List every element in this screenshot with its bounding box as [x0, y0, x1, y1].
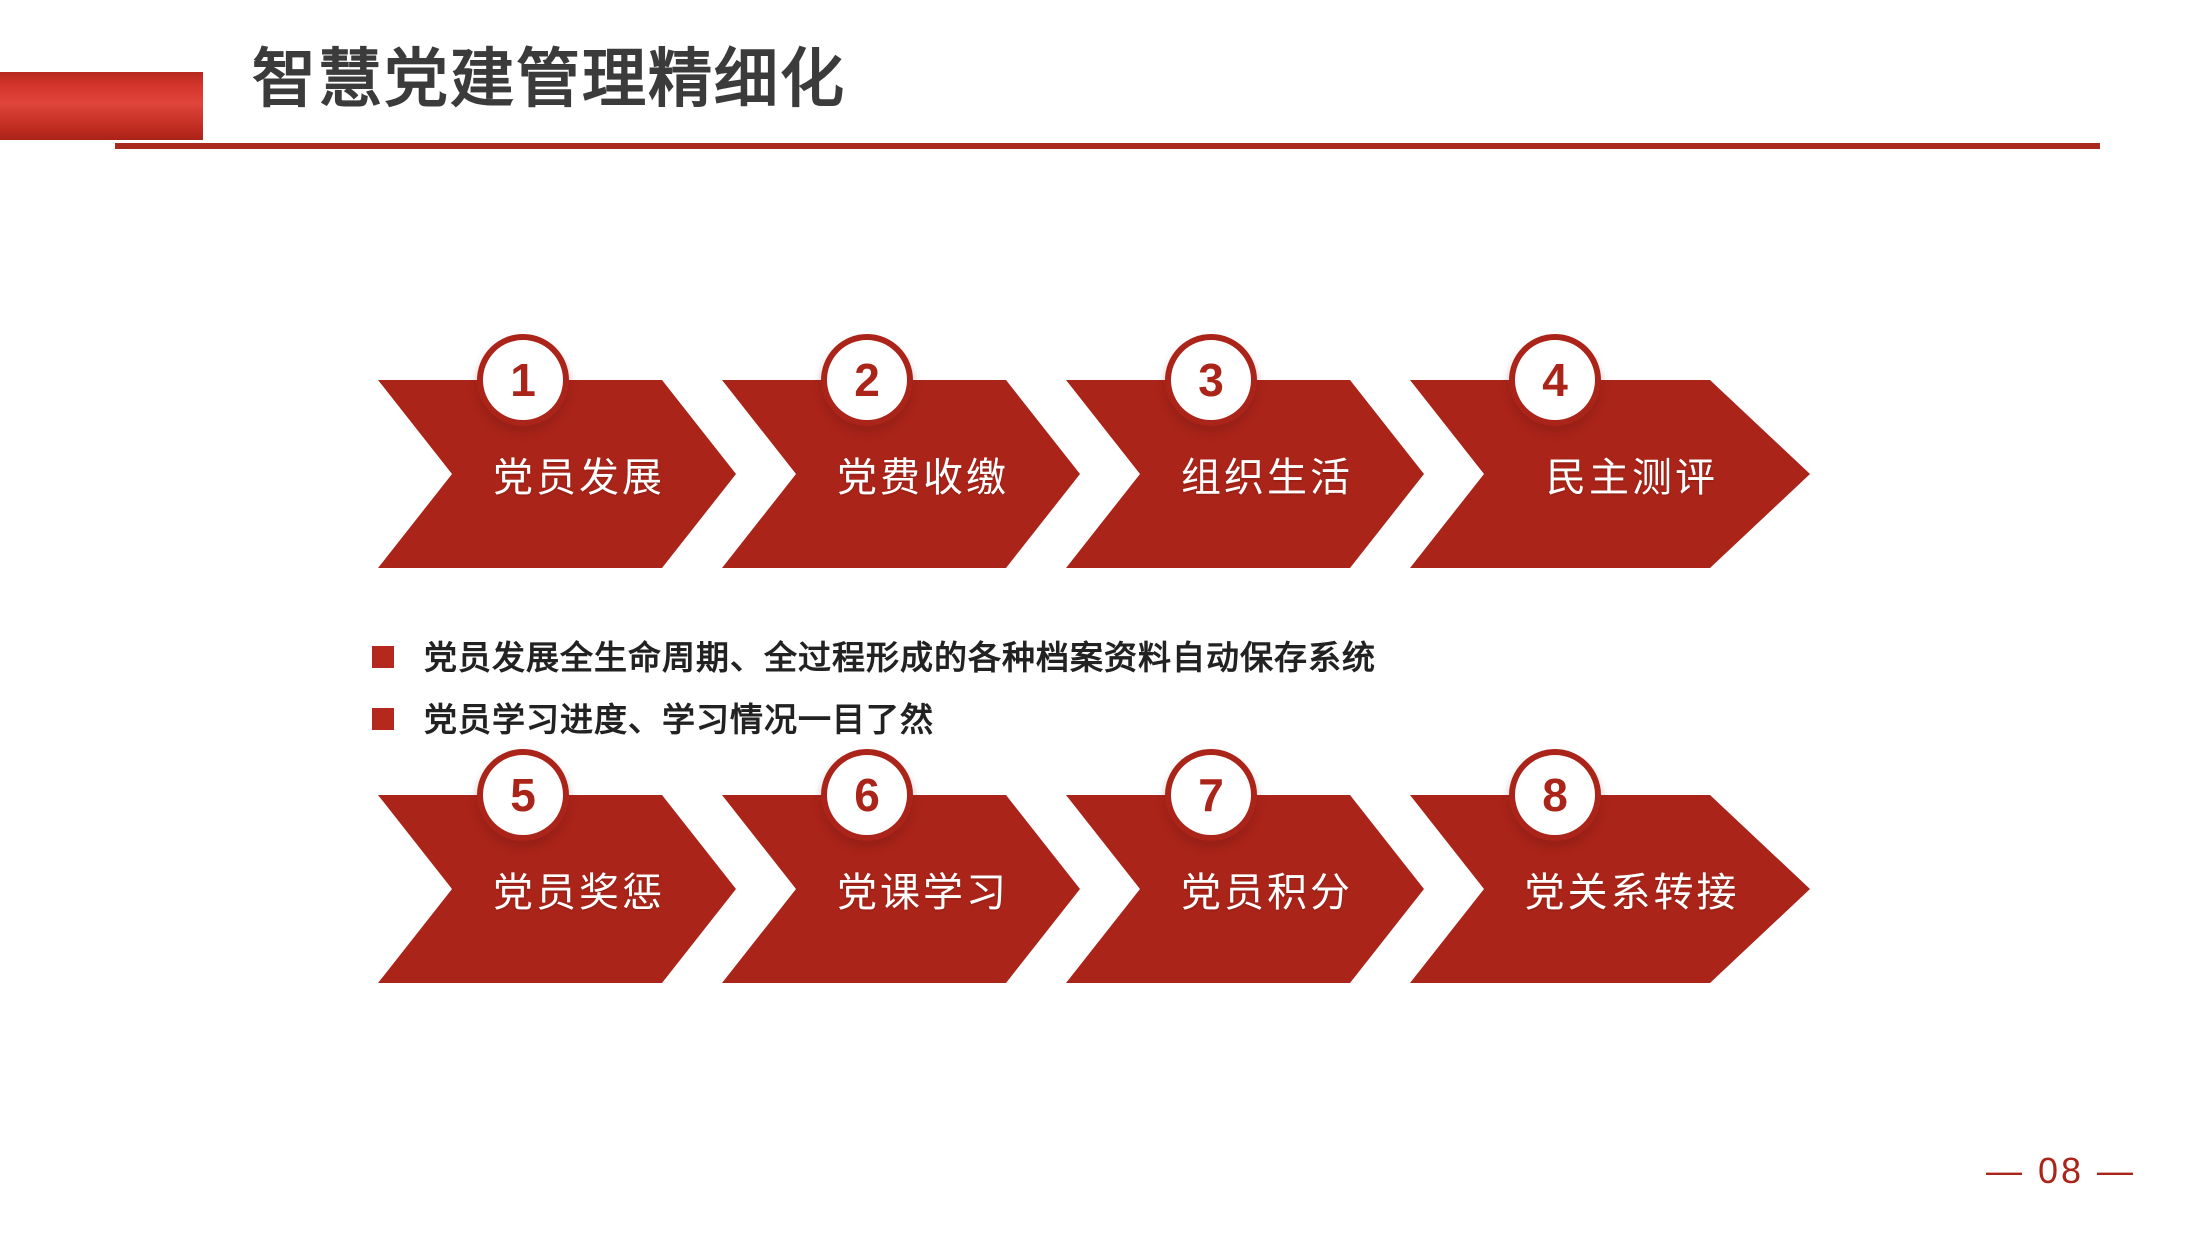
step-number-badge-2: 2 [821, 334, 913, 426]
list-item: 党员学习进度、学习情况一目了然 [372, 688, 1672, 750]
process-row-1: 党员发展 党费收缴 组织生活 民主测评 1 2 3 4 [378, 380, 1790, 568]
process-step-label: 党员发展 [493, 445, 665, 503]
step-number-badge-3: 3 [1165, 334, 1257, 426]
process-step-label: 党费收缴 [837, 445, 1009, 503]
process-step-label: 党课学习 [837, 860, 1009, 918]
square-bullet-icon [372, 708, 394, 730]
header-divider-line [115, 143, 2100, 149]
process-step-label: 党员奖惩 [493, 860, 665, 918]
bullet-list: 党员发展全生命周期、全过程形成的各种档案资料自动保存系统 党员学习进度、学习情况… [372, 626, 1672, 750]
header-accent-block [0, 72, 203, 140]
step-number-badge-1: 1 [477, 334, 569, 426]
bullet-text: 党员学习进度、学习情况一目了然 [424, 703, 934, 736]
process-step-label: 民主测评 [1546, 445, 1718, 503]
process-step-label: 组织生活 [1181, 445, 1353, 503]
step-number-badge-4: 4 [1509, 334, 1601, 426]
step-number-badge-8: 8 [1509, 749, 1601, 841]
process-step-label: 党员积分 [1181, 860, 1353, 918]
step-number-badge-7: 7 [1165, 749, 1257, 841]
process-step-8[interactable]: 党关系转接 [1410, 795, 1810, 983]
process-row-2: 党员奖惩 党课学习 党员积分 党关系转接 5 6 7 8 [378, 795, 1790, 983]
page-title: 智慧党建管理精细化 [252, 47, 846, 111]
list-item: 党员发展全生命周期、全过程形成的各种档案资料自动保存系统 [372, 626, 1672, 688]
step-number-badge-6: 6 [821, 749, 913, 841]
process-step-4[interactable]: 民主测评 [1410, 380, 1810, 568]
slide-canvas: 智慧党建管理精细化 党员发展 党费收缴 组织生活 民主测评 1 2 3 4 党员… [0, 0, 2208, 1242]
page-number: — 08 — [1986, 1150, 2136, 1192]
bullet-text: 党员发展全生命周期、全过程形成的各种档案资料自动保存系统 [424, 641, 1376, 674]
step-number-badge-5: 5 [477, 749, 569, 841]
square-bullet-icon [372, 646, 394, 668]
process-step-label: 党关系转接 [1525, 860, 1740, 918]
